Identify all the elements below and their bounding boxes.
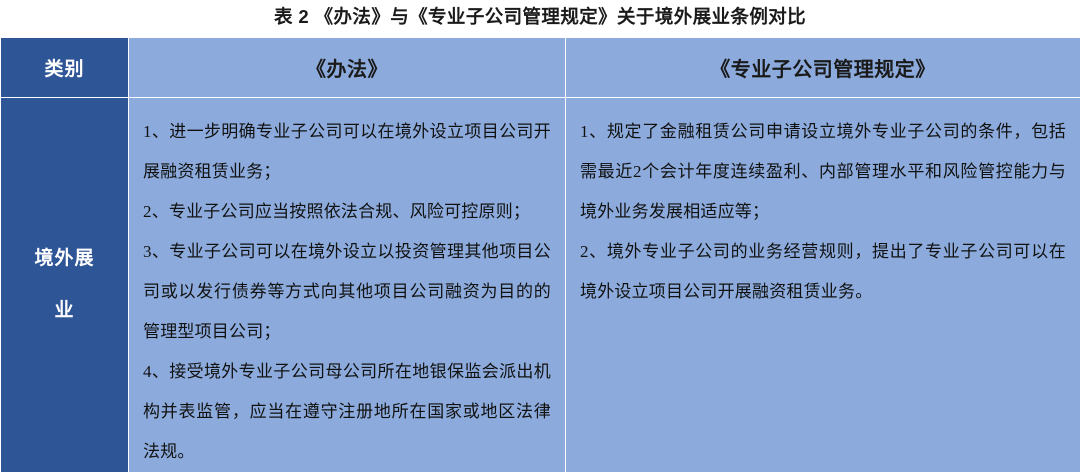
measures-item-2: 2、专业子公司应当按照依法合规、风险可控原则； [143, 192, 551, 232]
row-category-cell: 境外展业 [1, 98, 129, 473]
table-header: 类别 《办法》 《专业子公司管理规定》 [1, 38, 1080, 98]
column-header-regulation: 《专业子公司管理规定》 [566, 38, 1080, 98]
regulation-item-2: 2、境外专业子公司的业务经营规则，提出了专业子公司可以在境外设立项目公司开展融资… [580, 232, 1066, 312]
table-row: 境外展业 1、进一步明确专业子公司可以在境外设立项目公司开展融资租赁业务； 2、… [1, 98, 1080, 473]
measures-item-3: 3、专业子公司可以在境外设立以投资管理其他项目公司或以发行债券等方式向其他项目公… [143, 232, 551, 352]
cell-measures: 1、进一步明确专业子公司可以在境外设立项目公司开展融资租赁业务； 2、专业子公司… [129, 98, 566, 473]
regulation-item-1: 1、规定了金融租赁公司申请设立境外专业子公司的条件，包括需最近2个会计年度连续盈… [580, 112, 1066, 232]
cell-measures-content: 1、进一步明确专业子公司可以在境外设立项目公司开展融资租赁业务； 2、专业子公司… [129, 98, 565, 472]
table-caption: 表 2 《办法》与《专业子公司管理规定》关于境外展业条例对比 [0, 0, 1080, 37]
column-header-category: 类别 [1, 38, 129, 98]
measures-item-4: 4、接受境外专业子公司母公司所在地银保监会派出机构并表监管，应当在遵守注册地所在… [143, 352, 551, 472]
measures-item-1: 1、进一步明确专业子公司可以在境外设立项目公司开展融资租赁业务； [143, 112, 551, 192]
column-header-measures: 《办法》 [129, 38, 566, 98]
cell-regulation: 1、规定了金融租赁公司申请设立境外专业子公司的条件，包括需最近2个会计年度连续盈… [566, 98, 1080, 473]
comparison-table: 类别 《办法》 《专业子公司管理规定》 境外展业 1、进一步明确专业子公司可以在… [0, 37, 1080, 473]
table-body: 境外展业 1、进一步明确专业子公司可以在境外设立项目公司开展融资租赁业务； 2、… [1, 98, 1080, 473]
cell-regulation-content: 1、规定了金融租赁公司申请设立境外专业子公司的条件，包括需最近2个会计年度连续盈… [566, 98, 1080, 312]
table-header-row: 类别 《办法》 《专业子公司管理规定》 [1, 38, 1080, 98]
table-page: 表 2 《办法》与《专业子公司管理规定》关于境外展业条例对比 类别 《办法》 《… [0, 0, 1080, 456]
row-category-label: 境外展业 [29, 233, 101, 337]
